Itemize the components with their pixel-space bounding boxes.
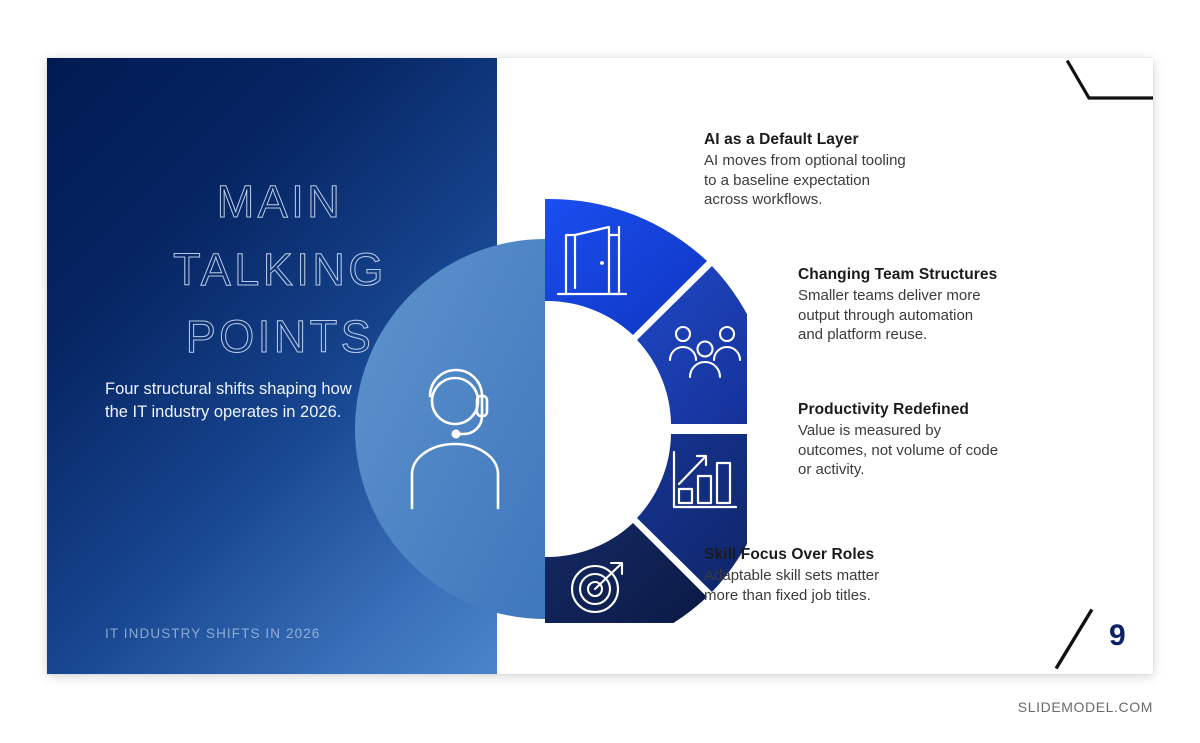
page-slash-icon xyxy=(1053,607,1099,671)
semicircle-donut-diagram xyxy=(227,113,747,623)
info-title: Skill Focus Over Roles xyxy=(704,546,954,564)
page-number: 9 xyxy=(1109,619,1126,653)
info-block-skill-focus-over-roles: Skill Focus Over Roles Adaptable skill s… xyxy=(704,546,954,605)
info-body: Value is measured by outcomes, not volum… xyxy=(798,421,1060,480)
watermark: SLIDEMODEL.COM xyxy=(1018,699,1153,715)
info-title: Changing Team Structures xyxy=(798,266,1048,284)
info-block-changing-team-structures: Changing Team Structures Smaller teams d… xyxy=(798,266,1048,345)
info-body: AI moves from optional tooling to a base… xyxy=(704,151,954,210)
info-body: Smaller teams deliver more output throug… xyxy=(798,286,1048,345)
panel-footer-label: IT INDUSTRY SHIFTS IN 2026 xyxy=(105,626,320,641)
info-block-productivity-redefined: Productivity Redefined Value is measured… xyxy=(798,401,1060,480)
info-title: Productivity Redefined xyxy=(798,401,1060,419)
info-block-ai-default-layer: AI as a Default Layer AI moves from opti… xyxy=(704,131,954,210)
slide-canvas: MAIN TALKING POINTS Four structural shif… xyxy=(47,58,1153,674)
info-body: Adaptable skill sets matter more than fi… xyxy=(704,566,954,605)
info-title: AI as a Default Layer xyxy=(704,131,954,149)
